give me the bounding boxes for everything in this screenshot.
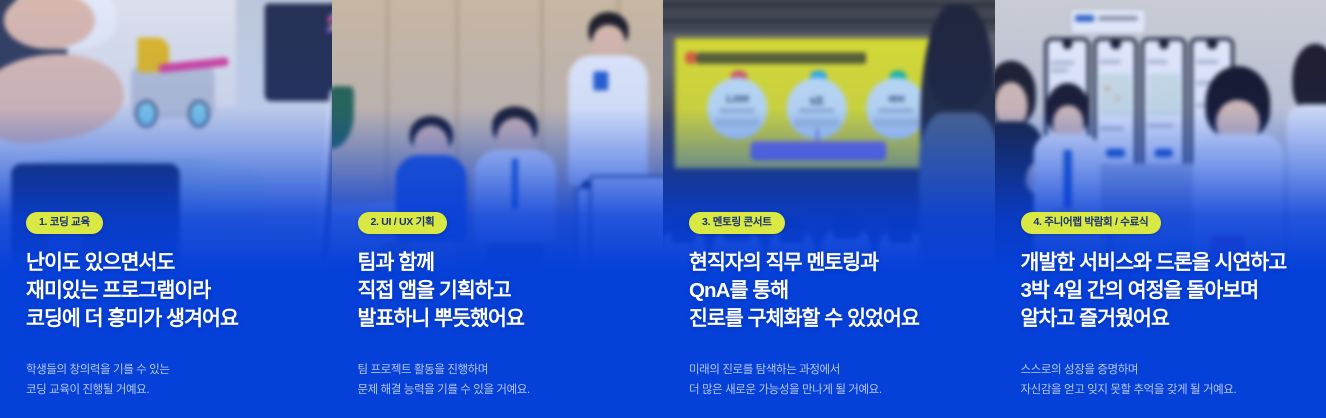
subtext-line: 스스로의 성장을 증명하며 [1021,360,1301,380]
headline-line: 3박 4일 간의 여정을 돌아보며 [1021,277,1301,305]
step-panel-2[interactable]: 2. UI / UX 기획 팀과 함께 직접 앱을 기획하고 발표하니 뿌듯했어… [332,0,664,418]
subtext-line: 문제 해결 능력을 기를 수 있을 거예요. [358,380,638,400]
step-headline-3: 현직자의 직무 멘토링과 QnA를 통해 진로를 구체화할 수 있었어요 [689,249,969,334]
step-panel-1[interactable]: 1. 코딩 교육 난이도 있으면서도 재미있는 프로그램이라 코딩에 더 흥미가… [0,0,332,418]
program-steps-strip: 1. 코딩 교육 난이도 있으면서도 재미있는 프로그램이라 코딩에 더 흥미가… [0,0,1326,418]
subtext-line: 팀 프로젝트 활동을 진행하며 [358,360,638,380]
step-subtext-1: 학생들의 창의력을 기를 수 있는 코딩 교육이 진행될 거예요. [26,360,306,400]
headline-line: 현직자의 직무 멘토링과 [689,249,969,277]
step-content-2: 팀과 함께 직접 앱을 기획하고 발표하니 뿌듯했어요 팀 프로젝트 활동을 진… [332,0,664,418]
subtext-line: 학생들의 창의력을 기를 수 있는 [26,360,306,380]
step-headline-2: 팀과 함께 직접 앱을 기획하고 발표하니 뿌듯했어요 [358,249,638,334]
headline-line: 팀과 함께 [358,249,638,277]
subtext-line: 더 많은 새로운 가능성을 만나게 될 거예요. [689,380,969,400]
step-subtext-2: 팀 프로젝트 활동을 진행하며 문제 해결 능력을 기를 수 있을 거예요. [358,360,638,400]
step-panel-4[interactable]: 4. 주니어랩 박람회 / 수료식 개발한 서비스와 드론을 시연하고 3박 4… [995,0,1326,418]
step-content-1: 난이도 있으면서도 재미있는 프로그램이라 코딩에 더 흥미가 생겨어요 학생들… [0,0,332,418]
step-content-4: 개발한 서비스와 드론을 시연하고 3박 4일 간의 여정을 돌아보며 알차고 … [995,0,1326,418]
headline-line: 직접 앱을 기획하고 [358,277,638,305]
headline-line: 난이도 있으면서도 [26,249,306,277]
step-subtext-3: 미래의 진로를 탐색하는 과정에서 더 많은 새로운 가능성을 만나게 될 거예… [689,360,969,400]
step-headline-4: 개발한 서비스와 드론을 시연하고 3박 4일 간의 여정을 돌아보며 알차고 … [1021,249,1301,334]
headline-line: 코딩에 더 흥미가 생겨어요 [26,305,306,333]
subtext-line: 코딩 교육이 진행될 거예요. [26,380,306,400]
subtext-line: 미래의 진로를 탐색하는 과정에서 [689,360,969,380]
headline-line: 진로를 구체화할 수 있었어요 [689,305,969,333]
headline-line: 알차고 즐거웠어요 [1021,305,1301,333]
headline-line: QnA를 통해 [689,277,969,305]
headline-line: 재미있는 프로그램이라 [26,277,306,305]
step-panel-3[interactable]: 1,000 5조 404 [663,0,995,418]
subtext-line: 자신감을 얻고 잊지 못할 추억을 갖게 될 거예요. [1021,380,1301,400]
headline-line: 개발한 서비스와 드론을 시연하고 [1021,249,1301,277]
step-subtext-4: 스스로의 성장을 증명하며 자신감을 얻고 잊지 못할 추억을 갖게 될 거예요… [1021,360,1301,400]
step-content-3: 현직자의 직무 멘토링과 QnA를 통해 진로를 구체화할 수 있었어요 미래의… [663,0,995,418]
headline-line: 발표하니 뿌듯했어요 [358,305,638,333]
step-headline-1: 난이도 있으면서도 재미있는 프로그램이라 코딩에 더 흥미가 생겨어요 [26,249,306,334]
